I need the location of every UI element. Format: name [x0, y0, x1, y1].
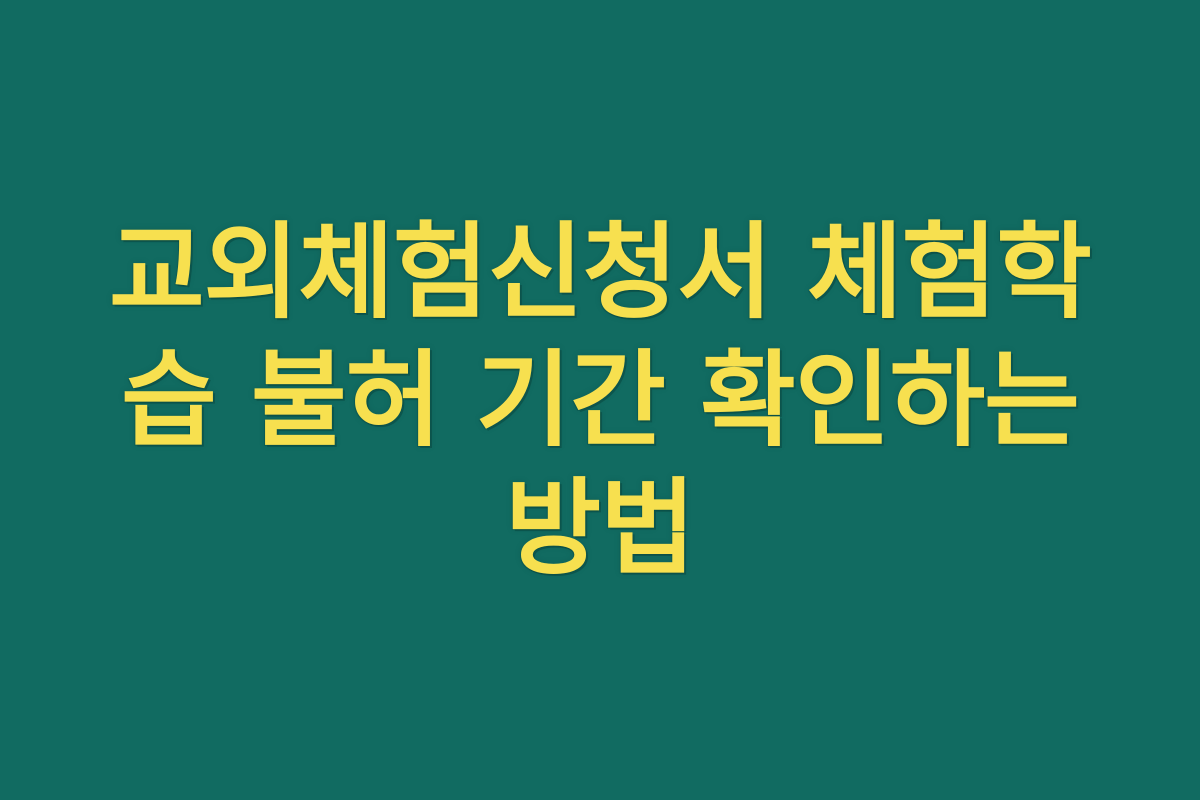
page-title-line-3: 방법: [100, 464, 1100, 592]
page-title: 교외체험신청서 체험학 습 불허 기간 확인하는 방법: [100, 208, 1100, 592]
title-banner: 교외체험신청서 체험학 습 불허 기간 확인하는 방법: [0, 0, 1200, 800]
page-title-line-1: 교외체험신청서 체험학: [100, 208, 1100, 336]
page-title-line-2: 습 불허 기간 확인하는: [100, 336, 1100, 464]
